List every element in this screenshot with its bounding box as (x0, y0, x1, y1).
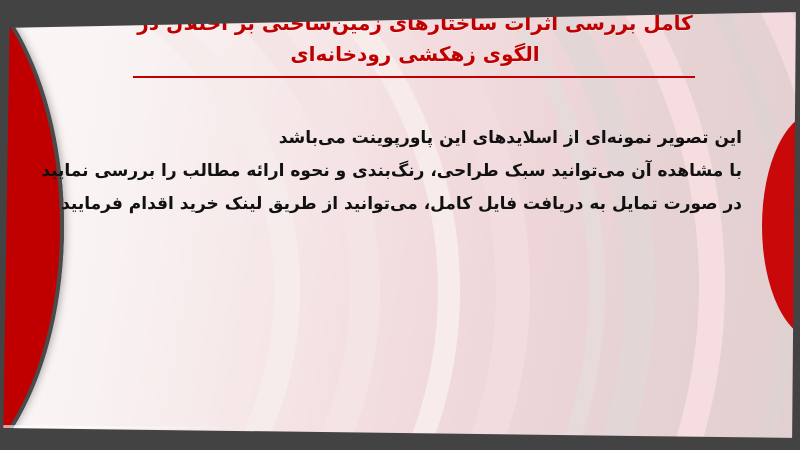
presentation-slide: کامل بررسی اثرات ساختارهای زمین‌ساختی بر… (0, 0, 800, 450)
slide-body-line-3: در صورت تمایل به دریافت فایل کامل، می‌تو… (70, 188, 742, 221)
slide-body: این تصویر نمونه‌ای از اسلایدهای این پاور… (70, 122, 742, 221)
slide-title-line-2: الگوی زهکشی رودخانه‌ای (130, 39, 700, 70)
slide-body-line-1: این تصویر نمونه‌ای از اسلایدهای این پاور… (70, 122, 742, 155)
slide-content-plate: کامل بررسی اثرات ساختارهای زمین‌ساختی بر… (0, 0, 800, 450)
slide-body-line-2: با مشاهده آن می‌توانید سبک طراحی، رنگ‌بن… (70, 155, 742, 188)
title-underline-rule (133, 76, 695, 78)
